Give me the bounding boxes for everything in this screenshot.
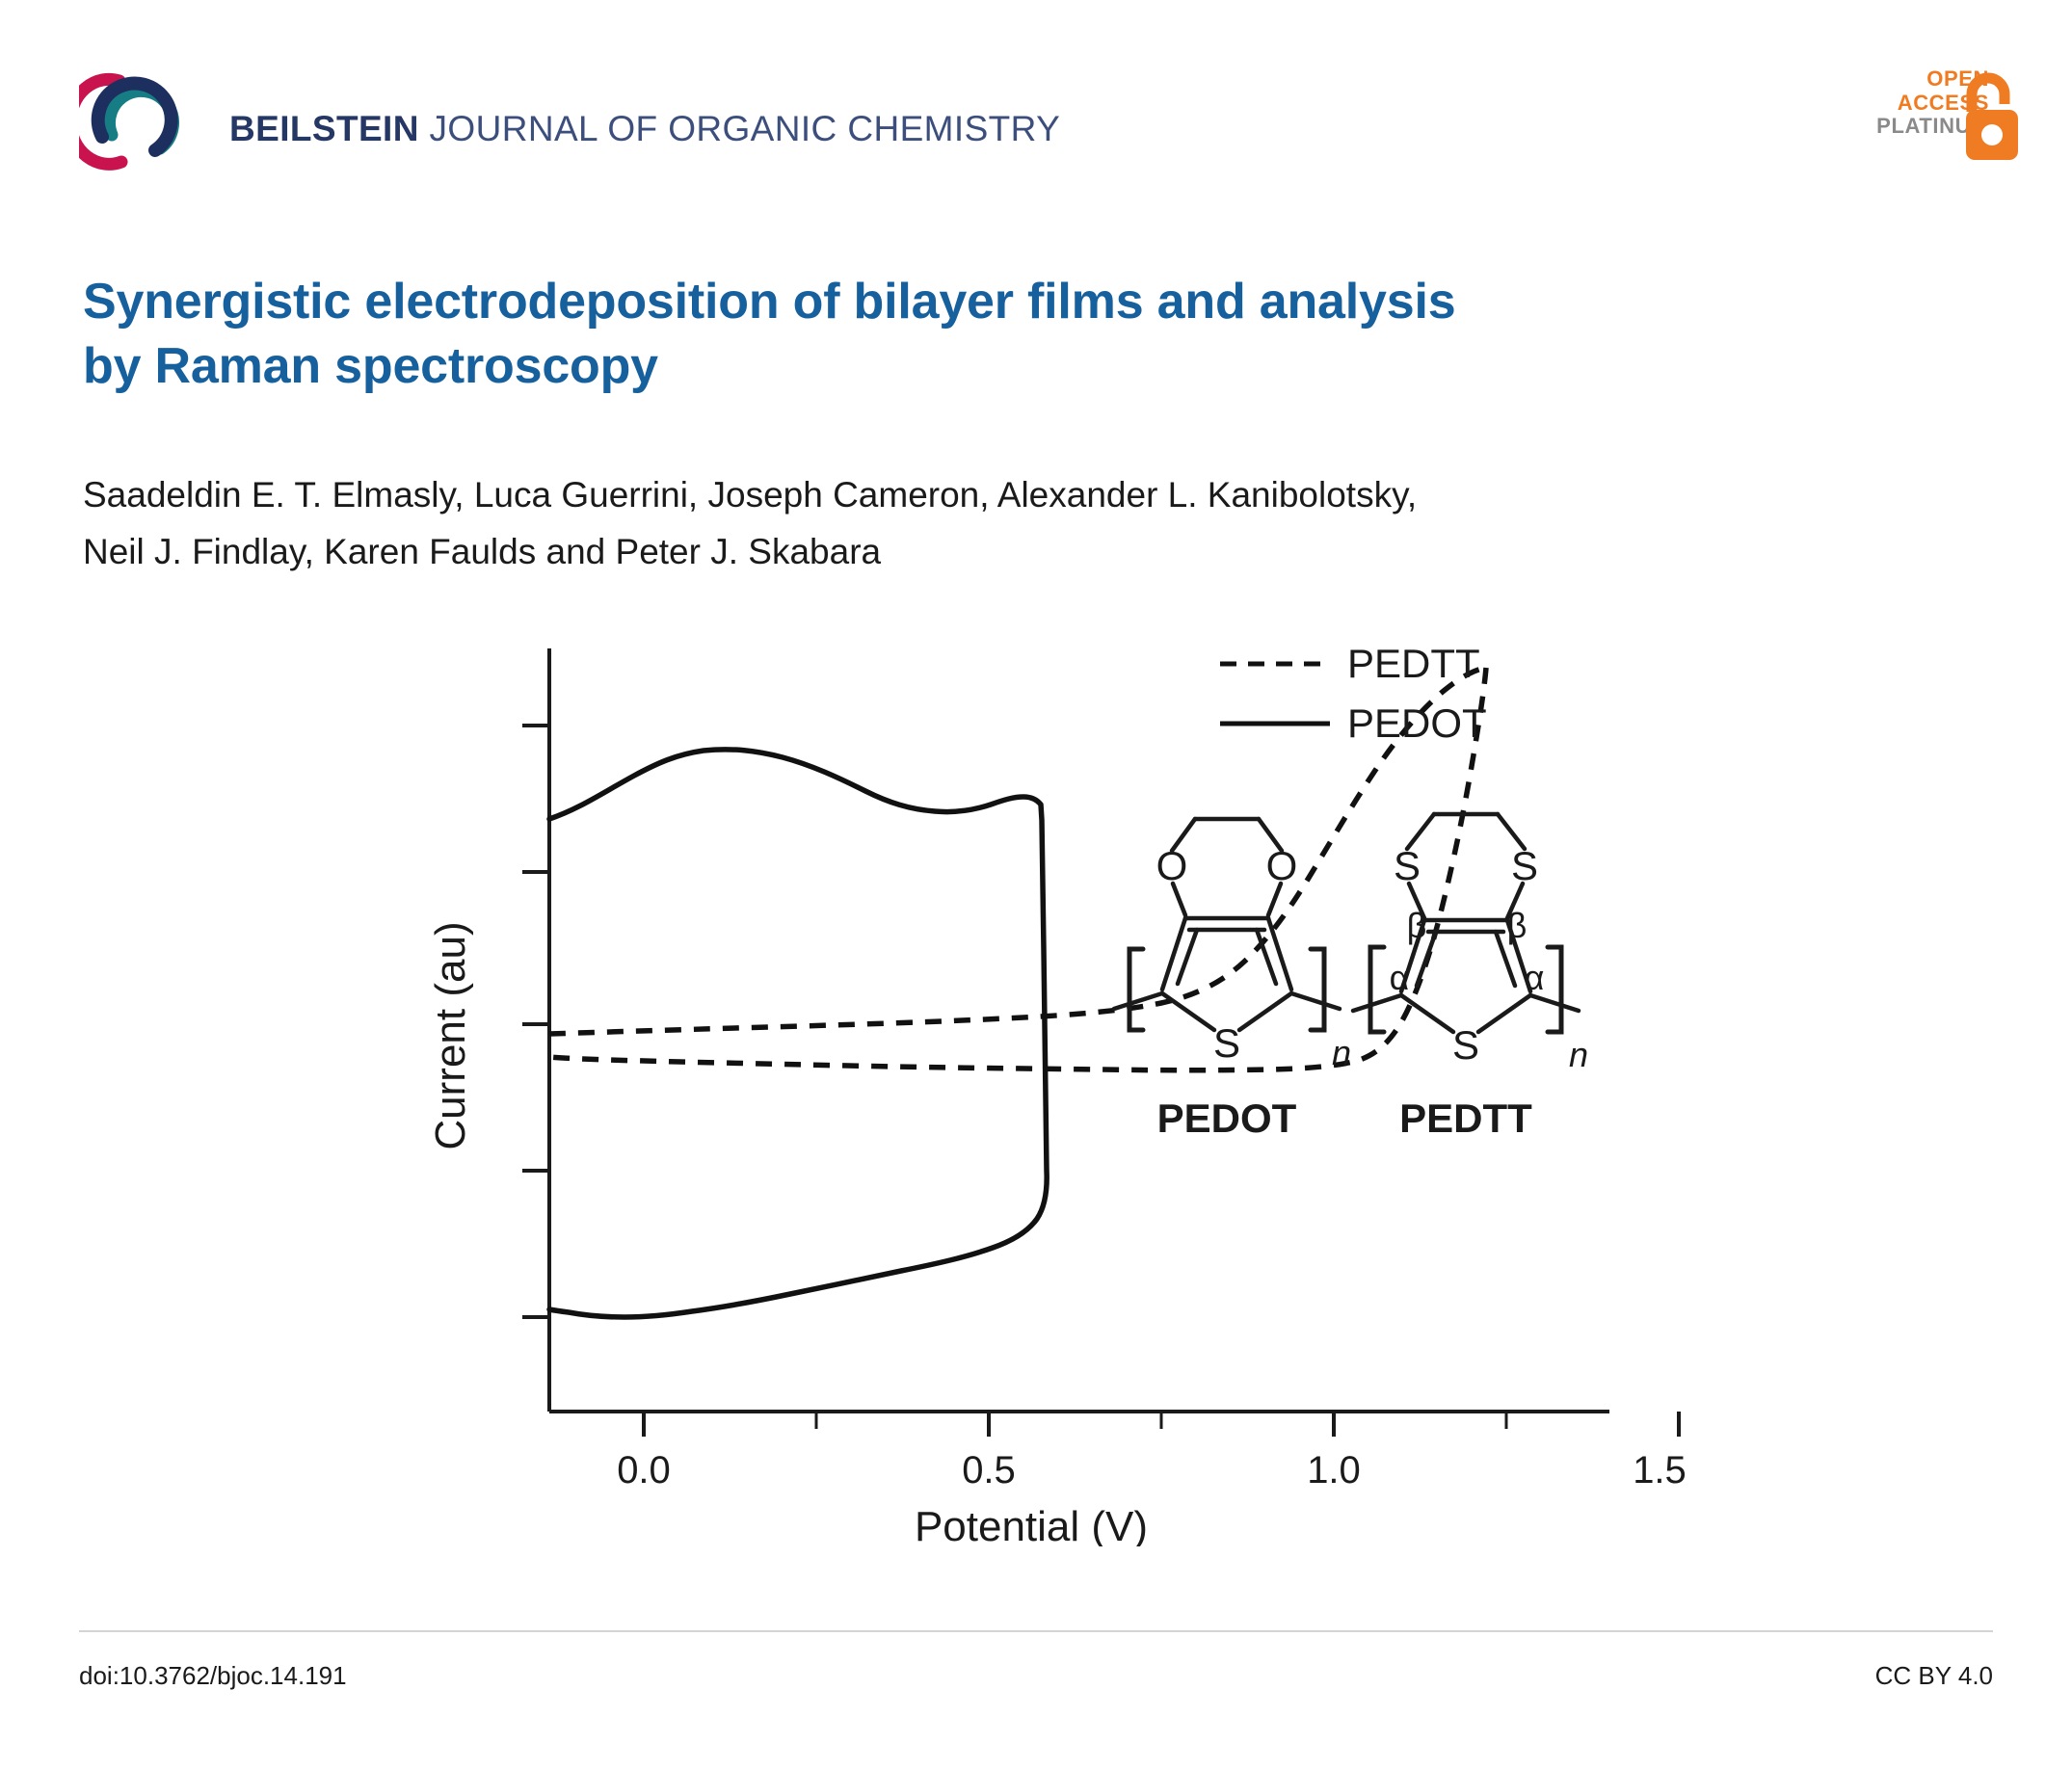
atom-label-s: S — [1452, 1022, 1479, 1068]
x-tick-label: 1.0 — [1307, 1449, 1361, 1492]
greek-label-alpha: α — [1525, 958, 1545, 997]
author-line-2: Neil J. Findlay, Karen Faulds and Peter … — [83, 523, 1972, 580]
article-title-line-2: by Raman spectroscopy — [83, 334, 1914, 399]
series-pedot-curve — [549, 750, 1047, 1317]
molecule-pedot — [1114, 819, 1340, 1030]
chart-axes — [522, 648, 1679, 1437]
repeat-index-n: n — [1569, 1035, 1588, 1074]
series-pedtt-curve — [549, 668, 1486, 1070]
atom-label-s: S — [1511, 843, 1538, 888]
beilstein-triple-ring-logo — [79, 66, 185, 172]
journal-name-bold: BEILSTEIN — [229, 109, 419, 148]
molecule-label-pedot: PEDOT — [1157, 1096, 1297, 1141]
greek-label-beta: β — [1407, 906, 1427, 945]
page-root: BEILSTEIN JOURNAL OF ORGANIC CHEMISTRY O… — [0, 0, 2072, 1769]
x-tick-label: 0.0 — [617, 1449, 671, 1492]
page-title: Synergistic electrodeposition of bilayer… — [83, 270, 1914, 398]
y-axis-label: Current (au) — [427, 921, 474, 1149]
x-tick-label: 1.5 — [1633, 1449, 1687, 1492]
molecule-label-pedtt: PEDTT — [1399, 1096, 1532, 1141]
footer-divider — [79, 1630, 1993, 1632]
page-header: BEILSTEIN JOURNAL OF ORGANIC CHEMISTRY O… — [0, 0, 2072, 173]
greek-label-beta: β — [1507, 906, 1527, 945]
doi-text: doi:10.3762/bjoc.14.191 — [79, 1661, 347, 1691]
molecule-pedtt-atom-labels: S S S β β α α n — [1390, 843, 1588, 1074]
x-tick-labels: 0.0 0.5 1.0 1.5 — [617, 1449, 1687, 1492]
x-tick-label: 0.5 — [962, 1449, 1016, 1492]
open-lock-icon — [1958, 62, 2026, 166]
cv-chart-svg: 0.0 0.5 1.0 1.5 Potential (V) Current (a… — [414, 631, 1687, 1546]
article-title-line-1: Synergistic electrodeposition of bilayer… — [83, 270, 1914, 334]
atom-label-o: O — [1156, 843, 1188, 888]
chart-legend: PEDTT PEDOT — [1220, 641, 1487, 746]
journal-name: BEILSTEIN JOURNAL OF ORGANIC CHEMISTRY — [229, 109, 1060, 149]
atom-label-s: S — [1394, 843, 1421, 888]
atom-label-s: S — [1213, 1020, 1240, 1066]
repeat-index-n: n — [1332, 1033, 1351, 1072]
license-text: CC BY 4.0 — [1875, 1661, 1993, 1691]
author-list: Saadeldin E. T. Elmasly, Luca Guerrini, … — [83, 466, 1972, 580]
molecule-pedtt — [1353, 814, 1579, 1032]
figure-cyclic-voltammogram: 0.0 0.5 1.0 1.5 Potential (V) Current (a… — [414, 631, 1687, 1546]
x-axis-label: Potential (V) — [915, 1503, 1148, 1546]
author-line-1: Saadeldin E. T. Elmasly, Luca Guerrini, … — [83, 466, 1972, 523]
legend-label-pedot: PEDOT — [1347, 700, 1487, 746]
journal-name-light: JOURNAL OF ORGANIC CHEMISTRY — [419, 109, 1060, 148]
legend-label-pedtt: PEDTT — [1347, 641, 1480, 686]
atom-label-o: O — [1266, 843, 1298, 888]
greek-label-alpha: α — [1390, 958, 1410, 997]
